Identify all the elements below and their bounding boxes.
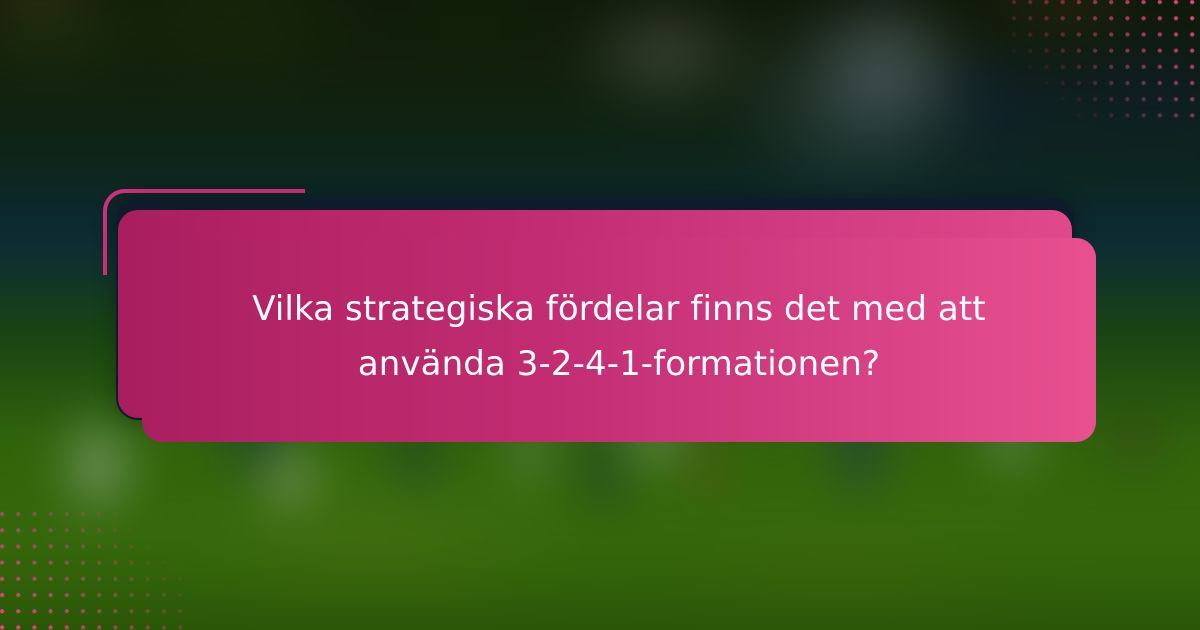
headline-card: Vilka strategiska fördelar finns det med… xyxy=(142,238,1096,442)
page-title: Vilka strategiska fördelar finns det med… xyxy=(142,282,1096,392)
share-card-canvas: Vilka strategiska fördelar finns det med… xyxy=(0,0,1200,630)
